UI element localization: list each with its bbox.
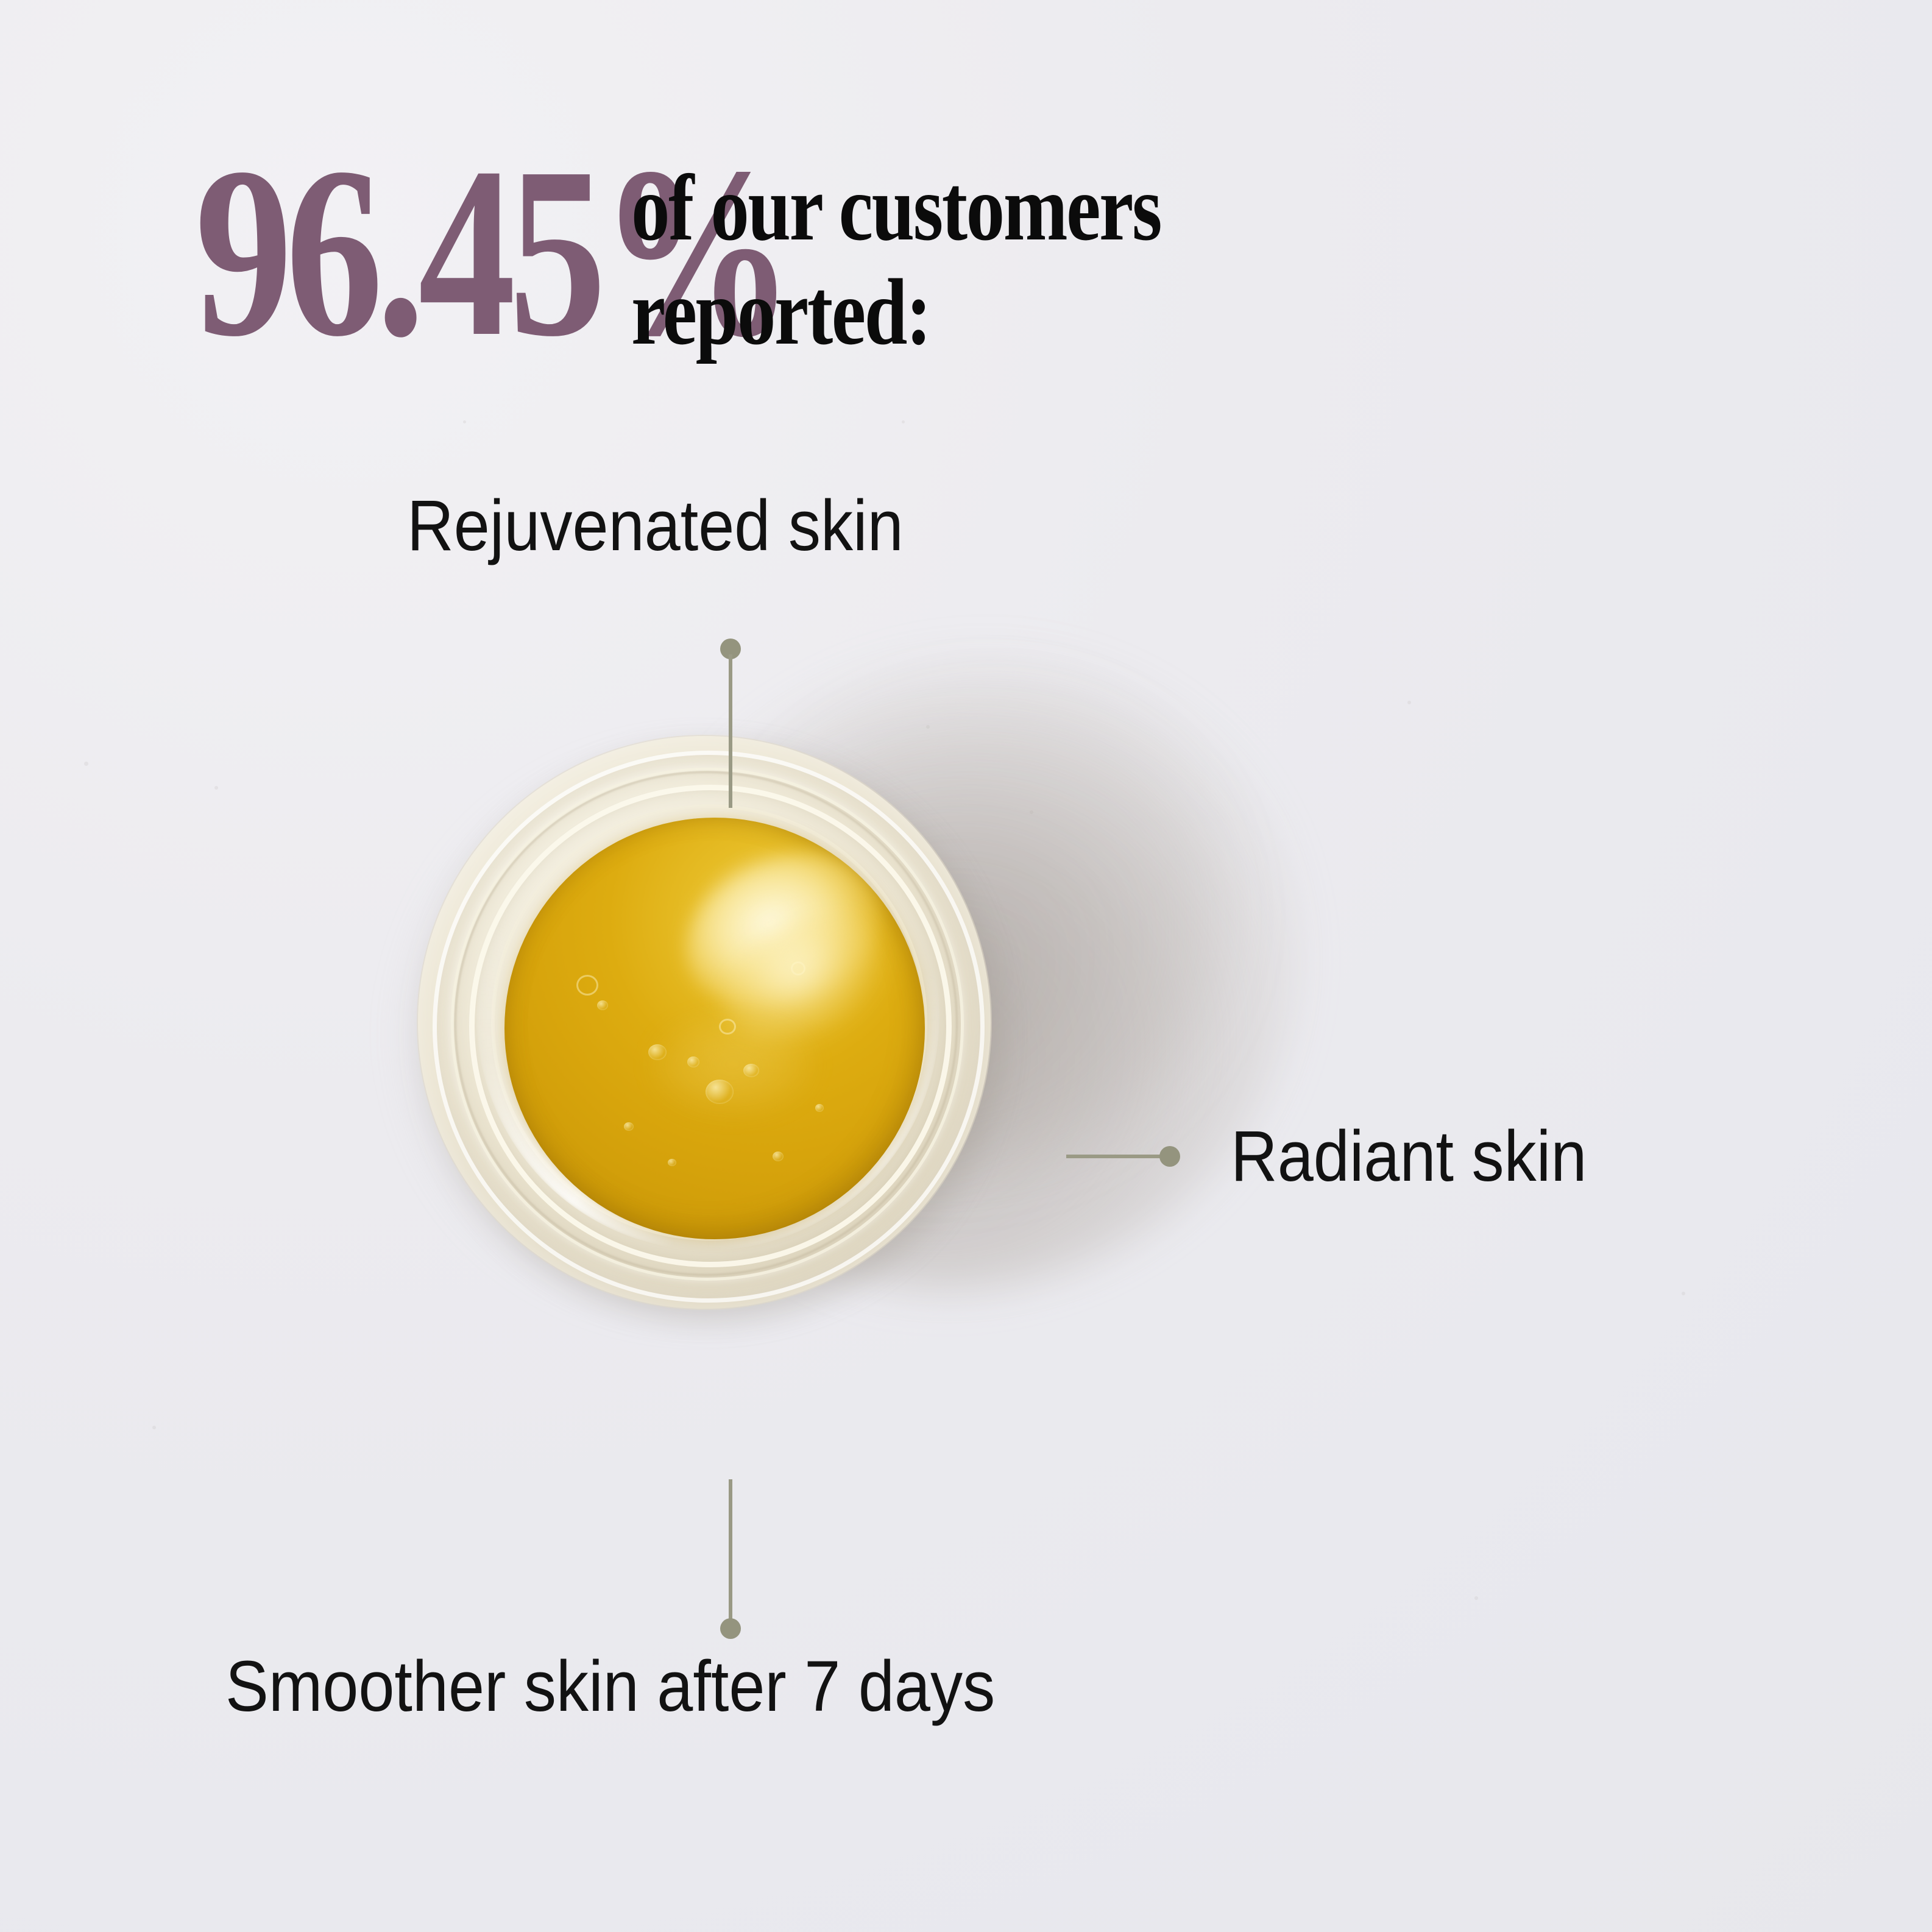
balm-bubble-ring: [576, 975, 598, 996]
balm-bubble-ring: [719, 1019, 736, 1035]
product-photo: [0, 548, 1932, 1584]
balm-bubble-ring: [791, 961, 805, 975]
connector-line-rejuvenated: [729, 654, 732, 808]
benefit-label-radiant: Radiant skin: [1231, 1115, 1587, 1198]
connector-line-radiant: [1066, 1155, 1169, 1158]
balm-bubble: [687, 1056, 699, 1067]
balm-bubble: [706, 1080, 734, 1104]
background-speck: [1474, 1596, 1478, 1600]
glass-jar: [418, 736, 991, 1309]
balm-surface: [504, 818, 925, 1239]
balm-bubble: [773, 1152, 784, 1161]
balm-bubble: [648, 1044, 667, 1060]
benefit-label-rejuvenated: Rejuvenated skin: [407, 484, 904, 567]
connector-dot-smoother: [720, 1618, 741, 1639]
connector-dot-radiant: [1159, 1146, 1180, 1167]
balm-bubble: [668, 1159, 676, 1166]
balm-bubble: [815, 1104, 824, 1112]
headline-statement: of our customers reported:: [631, 156, 1161, 364]
infographic-canvas: 96.45% of our customers reported:: [0, 0, 1932, 1932]
background-speck: [902, 420, 905, 423]
headline: 96.45% of our customers reported:: [195, 146, 1755, 364]
background-speck: [463, 420, 466, 423]
connector-line-smoother: [729, 1479, 732, 1624]
balm-bubble: [624, 1122, 634, 1131]
benefit-label-smoother: Smoother skin after 7 days: [225, 1645, 995, 1728]
balm-bubble: [743, 1064, 759, 1077]
balm-bubble: [597, 1000, 608, 1010]
